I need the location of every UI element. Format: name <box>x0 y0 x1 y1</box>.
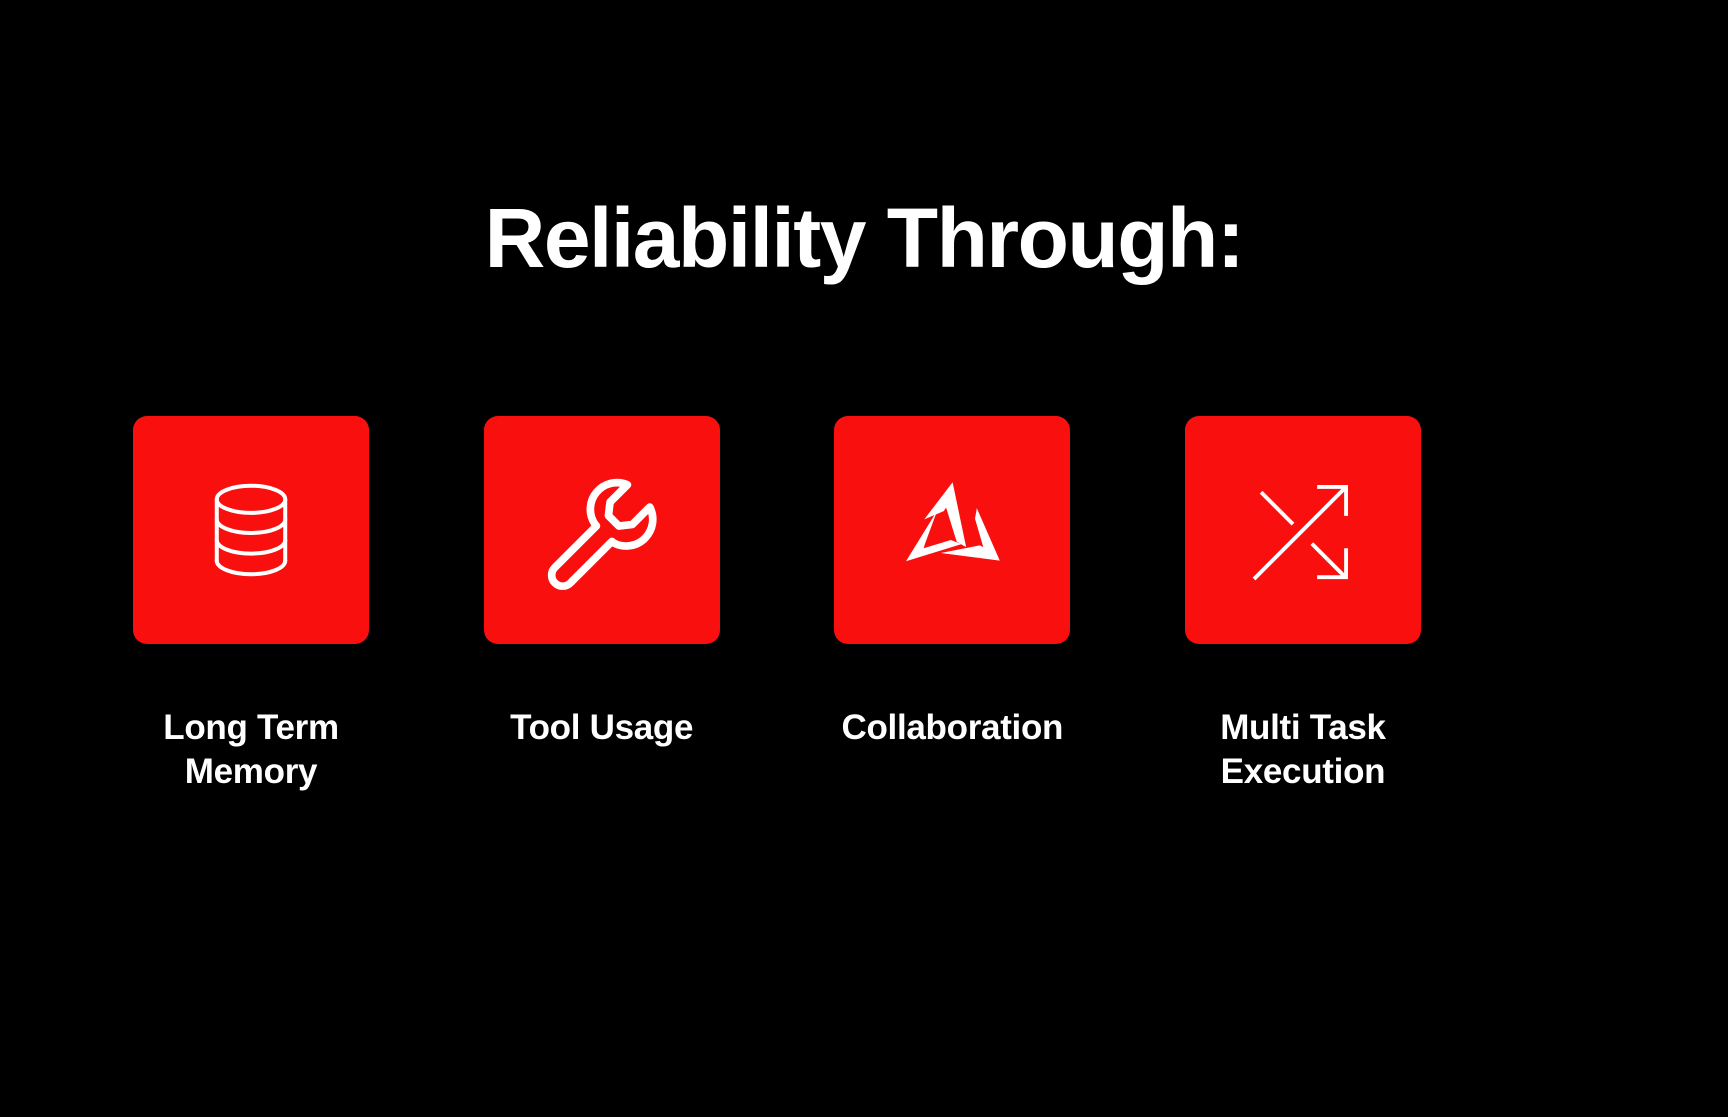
icon-tile-collaboration[interactable] <box>834 416 1070 644</box>
feature-card-tool-usage[interactable]: Tool Usage <box>484 416 720 750</box>
feature-card-label: Tool Usage <box>510 706 693 750</box>
icon-tile-tool-usage[interactable] <box>484 416 720 644</box>
recycle-cycle-arrows-icon <box>893 471 1011 589</box>
slide-root: Reliability Through: Long Term Memory <box>0 0 1728 1117</box>
feature-card-collaboration[interactable]: Collaboration <box>834 416 1070 750</box>
feature-card-multi-task-execution[interactable]: Multi Task Execution <box>1185 416 1421 794</box>
feature-card-long-term-memory[interactable]: Long Term Memory <box>133 416 369 794</box>
icon-tile-multi-task-execution[interactable] <box>1185 416 1421 644</box>
feature-card-label: Collaboration <box>841 706 1063 750</box>
wrench-icon <box>540 468 664 592</box>
feature-card-label: Multi Task Execution <box>1220 706 1386 794</box>
database-icon <box>192 471 310 589</box>
icon-tile-long-term-memory[interactable] <box>133 416 369 644</box>
feature-card-row: Long Term Memory Tool Usage <box>133 416 1421 794</box>
page-title: Reliability Through: <box>0 196 1728 280</box>
feature-card-label: Long Term Memory <box>163 706 339 794</box>
shuffle-arrows-icon <box>1244 471 1362 589</box>
